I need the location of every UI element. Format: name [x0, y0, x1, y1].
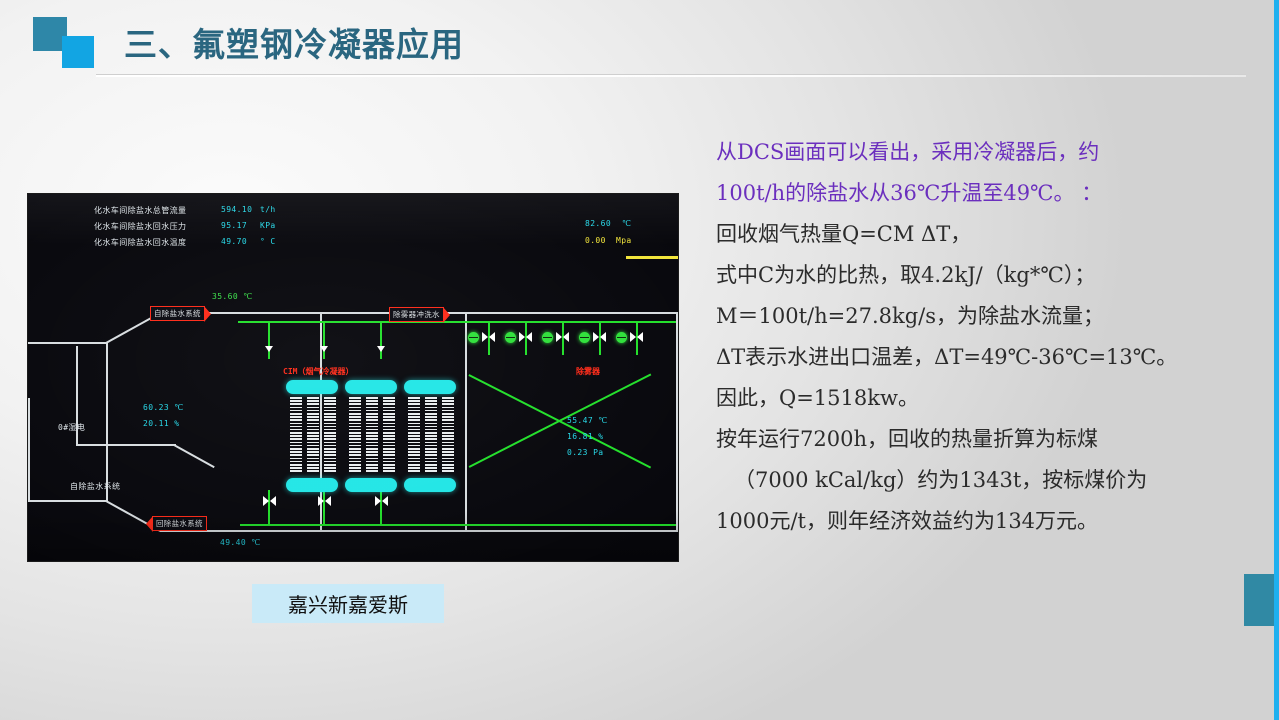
text-line-7: 因此，Q=1518kw。 [716, 378, 1264, 419]
slide-canvas: 三、氟塑钢冷凝器应用 从DCS画面可以看出，采用冷凝器后，约 100t/h的除盐… [0, 0, 1279, 720]
dcs-unit-flow: t/h [260, 205, 276, 214]
text-line-6: ΔT表示水进出口温差，ΔT=49℃-36℃=13℃。 [716, 337, 1264, 378]
dcs-value-stack-pressure: 0.00 [585, 236, 606, 245]
condenser-top-header-1 [286, 380, 338, 394]
status-indicator-3 [542, 332, 553, 343]
tube-bundle-2a [349, 397, 361, 474]
condenser-bottom-header-1 [286, 478, 338, 492]
dcs-value-outlet-o2: 16.81 % [567, 432, 604, 441]
edge-accent-blue [1274, 0, 1279, 720]
pipe-supply-header [238, 321, 676, 323]
text-line-8: 按年运行7200h，回收的热量折算为标煤 [716, 419, 1264, 460]
tube-bundle-1b [307, 397, 319, 474]
decoration-square-light [62, 36, 94, 68]
dcs-yellow-bar [626, 256, 678, 259]
duct-line-bottom [160, 530, 678, 532]
tag-supply-line: 自除盐水系统 [150, 306, 205, 321]
valve-icon-1 [482, 332, 495, 343]
duct-line-chamber-bottom [76, 444, 176, 446]
valve-icon-2 [519, 332, 532, 343]
tag-demister-wash: 除雾器冲洗水 [389, 307, 444, 322]
tube-bundle-2c [383, 397, 395, 474]
condenser-top-header-2 [345, 380, 397, 394]
tag-return-line: 回除盐水系统 [152, 516, 207, 531]
tube-bundle-3c [442, 397, 454, 474]
flow-arrow-down-2 [320, 346, 328, 352]
dcs-value-pressure: 95.17 [221, 221, 247, 230]
dcs-unit-stack-temp: ℃ [622, 219, 631, 228]
edge-accent-teal [1244, 574, 1274, 626]
dcs-value-inlet-o2: 20.11 % [143, 419, 180, 428]
text-line-4: 式中C为水的比热，取4.2kJ/（kg*℃）； [716, 255, 1264, 296]
duct-line-left-vertical [28, 398, 30, 502]
photo-caption: 嘉兴新嘉爱斯 [252, 584, 444, 623]
dcs-label-flow: 化水车间除盐水总管流量 [94, 205, 186, 216]
tube-bundle-1c [324, 397, 336, 474]
tag-supply-zone: 自除盐水系统 [70, 481, 120, 492]
status-indicator-4 [579, 332, 590, 343]
duct-line-chamber-taper [174, 444, 215, 468]
duct-line-right [676, 312, 678, 532]
pipe-return-header [240, 524, 676, 526]
dcs-value-outlet-temp: 55.47 ℃ [567, 416, 608, 425]
status-indicator-1 [468, 332, 479, 343]
valve-icon-return-2 [318, 496, 331, 507]
dcs-unit-stack-pressure: Mpa [616, 236, 632, 245]
text-line-1: 从DCS画面可以看出，采用冷凝器后，约 [716, 132, 1264, 173]
valve-icon-return-1 [263, 496, 276, 507]
text-line-9: （7000 kCal/kg）约为1343t，按标煤价为 [716, 460, 1264, 501]
duct-line-hopper-right [106, 342, 108, 502]
text-line-10: 1000元/t，则年经济效益约为134万元。 [716, 501, 1264, 542]
tube-bundle-3a [408, 397, 420, 474]
tube-bundle-3b [425, 397, 437, 474]
status-indicator-2 [505, 332, 516, 343]
dcs-value-temp: 49.70 [221, 237, 247, 246]
page-title: 三、氟塑钢冷凝器应用 [124, 18, 464, 66]
dcs-unit-pressure: KPa [260, 221, 276, 230]
flow-arrow-down-3 [377, 346, 385, 352]
tag-wesp: 0#湿电 [58, 422, 85, 433]
text-line-3: 回收烟气热量Q=CM ΔT， [716, 214, 1264, 255]
dcs-value-outlet-pressure: 0.23 Pa [567, 448, 604, 457]
duct-line-hopper-top [28, 342, 108, 344]
flow-arrow-down-1 [265, 346, 273, 352]
condenser-top-header-3 [404, 380, 456, 394]
photo-vignette-overlay [28, 194, 678, 561]
valve-icon-5 [630, 332, 643, 343]
dcs-label-pressure: 化水车间除盐水回水压力 [94, 221, 186, 232]
dcs-value-return-temp: 49.40 ℃ [220, 538, 261, 547]
duct-line-bottom-left [28, 500, 108, 502]
dcs-value-stack-temp: 82.60 [585, 219, 611, 228]
pipe-supply-drop-1 [268, 321, 270, 359]
text-line-2: 100t/h的除盐水从36℃升温至49℃。 ： [716, 173, 1264, 214]
status-indicator-5 [616, 332, 627, 343]
condenser-bottom-header-3 [404, 478, 456, 492]
text-line-5: M＝100t/h=27.8kg/s，为除盐水流量； [716, 296, 1264, 337]
condenser-label: CIM（烟气冷凝器） [283, 366, 353, 377]
title-divider [96, 74, 1246, 77]
slide-title-bar: 三、氟塑钢冷凝器应用 [0, 0, 1279, 90]
pipe-supply-drop-3 [380, 321, 382, 359]
dcs-label-temp: 化水车间除盐水回水温度 [94, 237, 186, 248]
dcs-unit-temp: ° C [260, 237, 276, 246]
tube-bundle-2b [366, 397, 378, 474]
dcs-value-inlet-temp: 60.23 ℃ [143, 403, 184, 412]
valve-icon-return-3 [375, 496, 388, 507]
duct-line-divider-2 [465, 312, 467, 532]
condenser-bottom-header-2 [345, 478, 397, 492]
dcs-value-supply-temp: 35.60 ℃ [212, 292, 253, 301]
valve-icon-3 [556, 332, 569, 343]
dcs-screen-photo: 化水车间除盐水总管流量 594.10 t/h 化水车间除盐水回水压力 95.17… [28, 194, 678, 561]
dcs-value-flow: 594.10 [221, 205, 252, 214]
tube-bundle-1a [290, 397, 302, 474]
valve-icon-4 [593, 332, 606, 343]
demister-label: 除雾器 [576, 366, 600, 377]
pipe-supply-drop-2 [323, 321, 325, 359]
body-text-block: 从DCS画面可以看出，采用冷凝器后，约 100t/h的除盐水从36℃升温至49℃… [716, 132, 1264, 542]
